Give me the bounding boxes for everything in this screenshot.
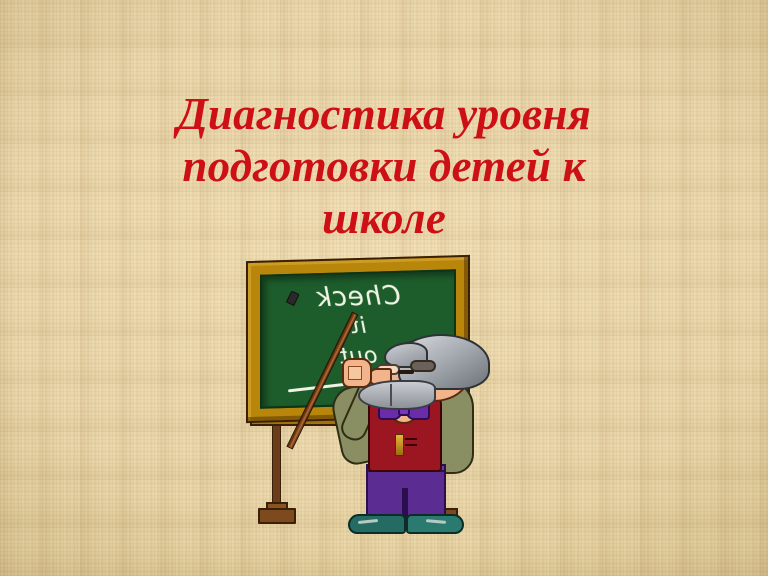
teacher-shoe-left [348, 514, 406, 534]
teacher-at-chalkboard-illustration: Check it out [236, 256, 508, 536]
teacher-watch-chain [395, 434, 404, 456]
chalkboard-foot-left [258, 508, 296, 524]
title-line-3: школе [0, 192, 768, 244]
title-line-1: Диагностика уровня [0, 88, 768, 140]
teacher-figure [314, 338, 504, 536]
page-title: Диагностика уровня подготовки детей к шк… [0, 88, 768, 244]
title-line-2: подготовки детей к [0, 140, 768, 192]
teacher-shoe-right [406, 514, 464, 534]
teacher-eye [398, 370, 414, 374]
teacher-mustache-split [390, 384, 392, 406]
teacher-glasses-right-lens [410, 360, 436, 372]
title-slide: Диагностика уровня подготовки детей к шк… [0, 0, 768, 576]
chalkboard-leg-left [272, 422, 281, 514]
teacher-hand-knuckles [348, 366, 362, 380]
teacher-watch-chain-link-2 [405, 444, 417, 446]
teacher-watch-chain-link-1 [405, 438, 417, 440]
